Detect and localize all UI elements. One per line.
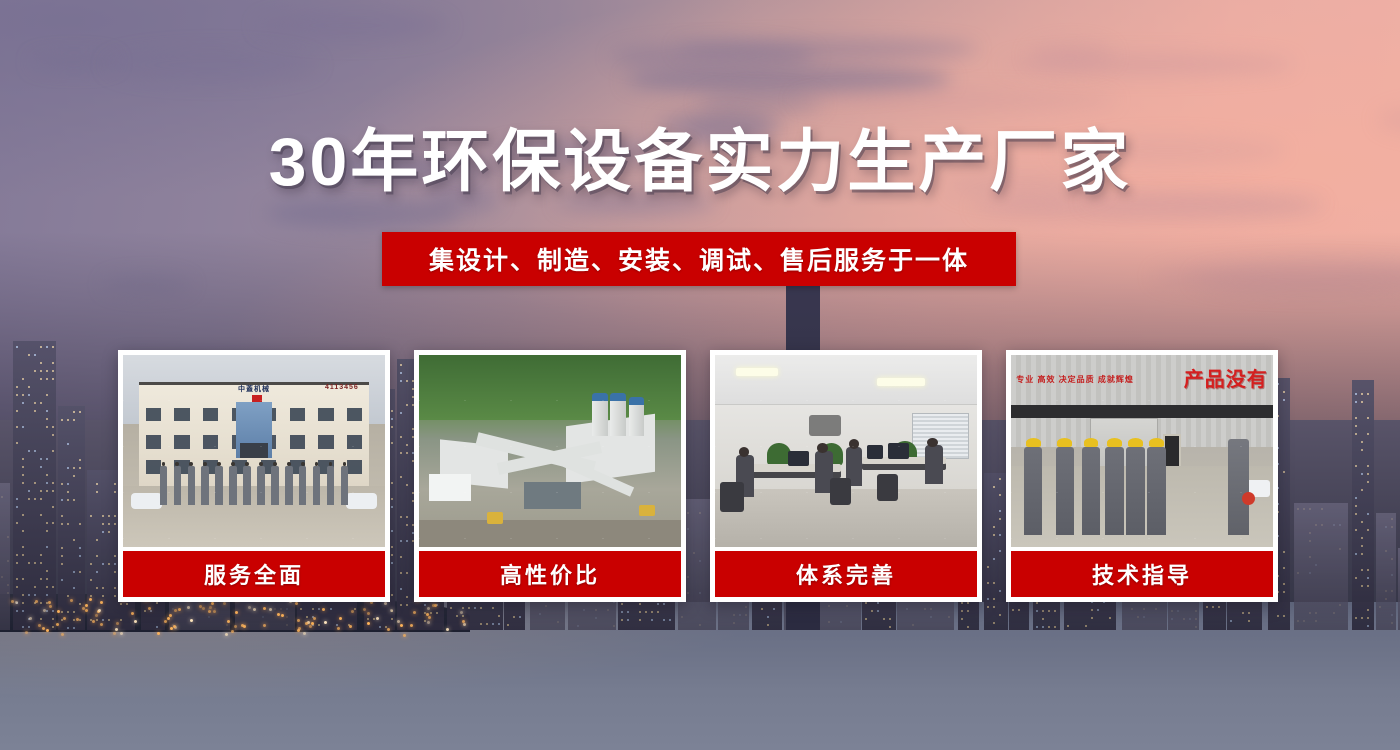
building — [1376, 513, 1396, 630]
silo-top — [592, 393, 608, 401]
subtitle-banner: 集设计、制造、安装、调试、售后服务于一体 — [382, 232, 1016, 286]
silo-top — [610, 393, 626, 401]
feature-card-label: 服务全面 — [123, 551, 385, 597]
feature-card-label: 体系完善 — [715, 551, 977, 597]
supervisor — [1228, 439, 1249, 535]
building — [0, 483, 10, 630]
building-phone-number: 4113456 — [325, 384, 359, 391]
hero-banner: 30年环保设备实力生产厂家 集设计、制造、安装、调试、售后服务于一体 — [0, 0, 1400, 750]
feature-card[interactable]: 产品没有 专业 高效 决定品质 成就辉煌 — [1006, 350, 1278, 602]
feature-card-label-text: 体系完善 — [796, 558, 896, 590]
feature-card[interactable]: 高性价比 — [414, 350, 686, 602]
ceiling-light — [877, 378, 924, 386]
feature-card-label: 高性价比 — [419, 551, 681, 597]
silo — [592, 397, 608, 435]
excavator — [639, 505, 655, 517]
building — [13, 341, 56, 630]
building — [58, 406, 86, 630]
factory-yard-illustration: 产品没有 专业 高效 决定品质 成就辉煌 — [1011, 355, 1273, 547]
warehouse-wall-text: 产品没有 — [1184, 363, 1268, 392]
parked-car — [131, 493, 162, 508]
feature-card[interactable]: 体系完善 — [710, 350, 982, 602]
feature-card-label-text: 高性价比 — [500, 558, 600, 590]
silo — [610, 397, 626, 435]
site-office — [429, 474, 471, 501]
worker — [1126, 447, 1144, 535]
office-interior-photo — [715, 355, 977, 547]
office-interior-illustration — [715, 355, 977, 547]
company-office-building-photo: 中蓋机械 4113456 — [123, 355, 385, 547]
silo — [629, 401, 645, 436]
warehouse-slogan-text: 专业 高效 决定品质 成就辉煌 — [1016, 374, 1134, 385]
site-road — [419, 520, 681, 547]
feature-card[interactable]: 中蓋机械 4113456 服务全面 — [118, 350, 390, 602]
red-helmet — [1242, 492, 1255, 505]
shed-roof — [524, 482, 582, 509]
feature-card-label-text: 技术指导 — [1092, 558, 1192, 590]
feature-card-list: 中蓋机械 4113456 服务全面 — [118, 350, 1278, 602]
flag — [252, 395, 262, 402]
person-head — [849, 439, 859, 449]
monitor — [888, 443, 909, 458]
factory-workers-photo: 产品没有 专业 高效 决定品质 成就辉煌 — [1011, 355, 1273, 547]
laptop — [788, 451, 809, 466]
building-entrance — [240, 443, 268, 458]
office-chair — [720, 482, 744, 513]
wall-logo — [809, 415, 840, 436]
industrial-plant-aerial-photo — [419, 355, 681, 547]
worker — [1024, 447, 1042, 535]
monitor — [867, 445, 883, 458]
office-chair — [877, 474, 898, 501]
worker — [1105, 447, 1123, 535]
worker — [1082, 447, 1100, 535]
person-head — [739, 447, 749, 457]
person-head — [927, 438, 937, 448]
ceiling-light — [736, 368, 778, 376]
person-head — [817, 443, 827, 453]
person — [925, 445, 943, 483]
feature-card-label: 技术指导 — [1011, 551, 1273, 597]
office-building-illustration: 中蓋机械 4113456 — [123, 355, 385, 547]
worker — [1056, 447, 1074, 535]
office-chair — [830, 478, 851, 505]
plant-aerial-illustration — [419, 355, 681, 547]
subtitle-text: 集设计、制造、安装、调试、售后服务于一体 — [429, 241, 969, 277]
wall-window-band — [1011, 405, 1273, 418]
worker — [1147, 447, 1165, 535]
building — [1294, 503, 1347, 630]
staff-lineup — [160, 466, 349, 504]
feature-card-label-text: 服务全面 — [204, 558, 304, 590]
ceiling — [715, 355, 977, 405]
page-title: 30年环保设备实力生产厂家 — [0, 128, 1400, 196]
parked-car — [346, 493, 377, 508]
building — [1352, 380, 1374, 630]
silo-top — [629, 397, 645, 405]
excavator — [487, 512, 503, 524]
